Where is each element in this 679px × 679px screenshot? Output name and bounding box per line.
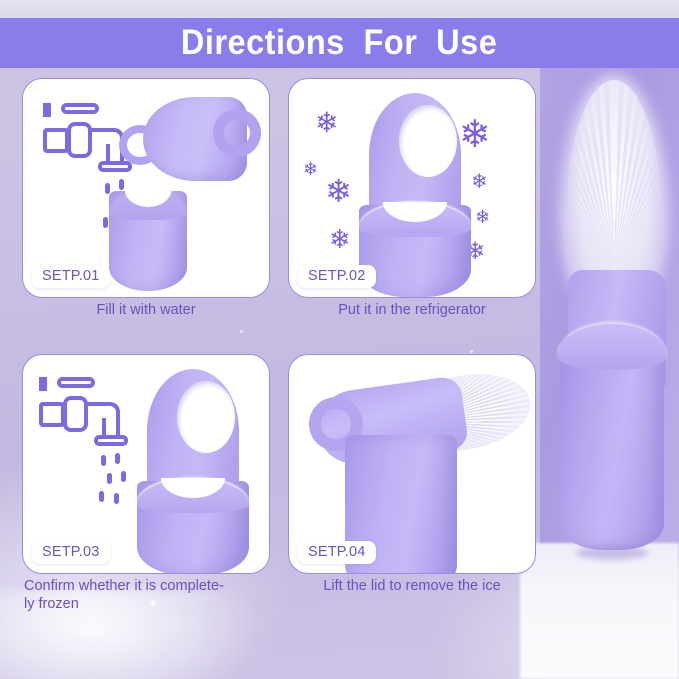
assembled-mold-cup — [359, 205, 471, 297]
faucet-icon — [39, 377, 135, 449]
hero-mold-shadow — [576, 546, 648, 560]
step-02-card[interactable]: ❄ ❄ ❄ ❄ ❄ ❄ ❄ ❄ ❄ — [288, 78, 536, 298]
step-04: SETP.04 Lift the lid to remove the ice — [288, 354, 536, 606]
faucet-inlet — [43, 128, 69, 153]
step-04-caption: Lift the lid to remove the ice — [288, 578, 536, 596]
snowflake-icon: ❄ — [329, 227, 351, 253]
background-top-strip — [0, 0, 679, 18]
faucet-handle — [57, 377, 95, 388]
step-03-caption: Confirm whether it is complete- ly froze… — [22, 578, 270, 613]
step-04-badge: SETP.04 — [298, 541, 376, 564]
step-01-card[interactable]: SETP.01 — [22, 78, 270, 298]
snowflake-icon: ❄ — [315, 109, 338, 137]
step-03-caption-line2: ly frozen — [24, 596, 270, 614]
step-01: SETP.01 Fill it with water — [22, 78, 270, 330]
step-01-caption: Fill it with water — [22, 302, 270, 320]
hero-product-photo — [548, 78, 676, 556]
faucet-valve — [63, 396, 88, 432]
step-02-caption: Put it in the refrigerator — [288, 302, 536, 320]
assembled-mold-handle-hole — [177, 381, 235, 453]
mold-lid-icon — [119, 97, 259, 181]
assembled-mold-icon — [355, 93, 475, 293]
faucet-stem — [39, 377, 47, 391]
background-snow-ledge — [520, 543, 679, 679]
lid-removal-icon — [305, 377, 521, 567]
assembled-mold-cup — [137, 481, 249, 574]
faucet-nozzle — [94, 435, 128, 446]
assembled-mold-handle-hole — [399, 105, 457, 177]
snowflake-icon: ❄ — [475, 209, 490, 227]
assembled-mold-icon — [133, 369, 253, 569]
step-04-card[interactable]: SETP.04 — [288, 354, 536, 574]
faucet-handle — [61, 103, 99, 114]
mold-lid-ring — [213, 109, 261, 157]
step-03-card[interactable]: SETP.03 — [22, 354, 270, 574]
steps-grid: SETP.01 Fill it with water ❄ ❄ ❄ ❄ ❄ ❄ ❄ — [22, 78, 536, 658]
header-band: Directions For Use — [0, 18, 679, 68]
instruction-poster: Directions For Use — [0, 0, 679, 679]
snowflake-icon: ❄ — [303, 161, 318, 179]
step-02-badge: SETP.02 — [298, 265, 376, 288]
step-01-badge: SETP.01 — [32, 265, 110, 288]
page-title: Directions For Use — [181, 23, 497, 63]
mold-cup-icon — [109, 191, 187, 291]
hero-mold — [554, 266, 670, 554]
faucet-inlet — [39, 402, 65, 427]
faucet-stem — [43, 103, 51, 117]
step-03-caption-line1: Confirm whether it is complete- — [24, 578, 270, 596]
faucet-valve — [67, 122, 92, 158]
step-03-badge: SETP.03 — [32, 541, 110, 564]
snowflake-icon: ❄ — [325, 175, 352, 207]
step-02: ❄ ❄ ❄ ❄ ❄ ❄ ❄ ❄ ❄ — [288, 78, 536, 330]
step-03: SETP.03 Confirm whether it is complete- … — [22, 354, 270, 606]
